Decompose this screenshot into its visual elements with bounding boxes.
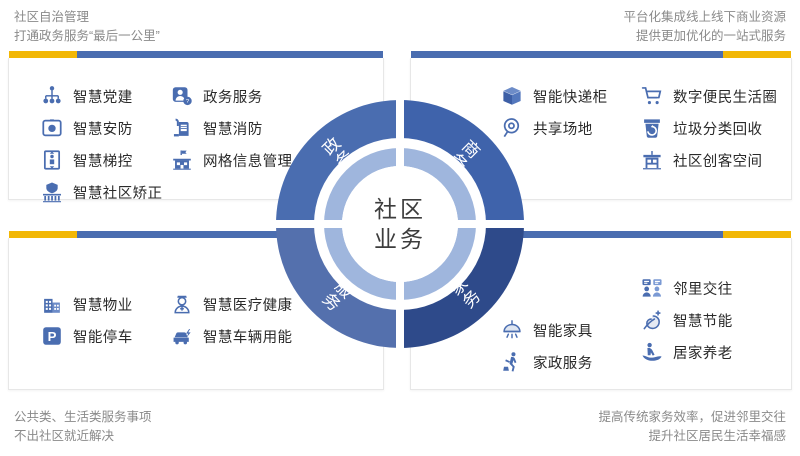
grid-building-icon xyxy=(170,148,194,172)
item-column: 智慧医疗健康 智慧车辆用能 xyxy=(170,288,292,352)
item-group-household: 智能家具 家政服务 邻里交往 智慧节能 居家养老 xyxy=(500,272,733,378)
list-item-label: 政务服务 xyxy=(203,86,263,107)
recycle-bin-icon xyxy=(640,116,664,140)
parking-icon: P xyxy=(40,324,64,348)
list-item[interactable]: 垃圾分类回收 xyxy=(640,112,777,144)
item-column: 智慧党建 智慧安防 智慧梯控 智慧社区矫正 xyxy=(40,80,170,208)
list-item[interactable]: 智慧社区矫正 xyxy=(40,176,170,208)
elevator-icon xyxy=(40,148,64,172)
list-item-label: 垃圾分类回收 xyxy=(673,118,762,139)
list-item[interactable]: 智慧消防 xyxy=(170,112,292,144)
apartment-icon xyxy=(40,292,64,316)
caption-top-left: 社区自治管理 打通政务服务“最后一公里” xyxy=(14,8,160,46)
center-donut-chart: 政务 商务 服务 家务 社区 业务 xyxy=(276,100,524,348)
list-item-label: 数字便民生活圈 xyxy=(673,86,777,107)
list-item-label: 智慧党建 xyxy=(73,86,133,107)
org-chart-icon xyxy=(40,84,64,108)
accent-gold-segment xyxy=(723,231,791,238)
list-item[interactable]: 智慧节能 xyxy=(640,304,733,336)
center-hub: 社区 业务 xyxy=(342,166,458,282)
caption-bottom-right: 提高传统家务效率，促进邻里交往 提升社区居民生活幸福感 xyxy=(598,408,786,446)
accent-gold-segment xyxy=(9,231,77,238)
list-item[interactable]: P 智能停车 xyxy=(40,320,170,352)
list-item-label: 居家养老 xyxy=(673,342,733,363)
list-item-label: 智慧梯控 xyxy=(73,150,133,171)
item-group-service: 智慧物业 P 智能停车 智慧医疗健康 智慧车辆用能 xyxy=(40,288,292,352)
list-item[interactable]: 智慧党建 xyxy=(40,80,170,112)
courthouse-icon xyxy=(40,180,64,204)
item-group-government: 智慧党建 智慧安防 智慧梯控 智慧社区矫正 ? 政务服务 智慧消防 xyxy=(40,80,292,208)
accent-blue-segment xyxy=(77,51,383,58)
list-item-label: 家政服务 xyxy=(533,352,593,373)
ev-charging-icon xyxy=(170,324,194,348)
list-item-label: 共享场地 xyxy=(533,118,593,139)
caption-top-right: 平台化集成线上线下商业资源 提供更加优化的一站式服务 xyxy=(623,8,786,46)
list-item[interactable]: 智慧安防 xyxy=(40,112,170,144)
accent-gold-segment xyxy=(723,51,791,58)
list-item[interactable]: ? 政务服务 xyxy=(170,80,292,112)
service-agent-icon: ? xyxy=(170,84,194,108)
makerspace-icon xyxy=(640,148,664,172)
list-item[interactable]: 邻里交往 xyxy=(640,272,733,304)
infographic-canvas: 社区自治管理 打通政务服务“最后一公里” 平台化集成线上线下商业资源 提供更加优… xyxy=(0,0,800,456)
list-item-label: 社区创客空间 xyxy=(673,150,762,171)
shopping-cart-icon xyxy=(640,84,664,108)
list-item-label: 智慧物业 xyxy=(73,294,133,315)
panel-accent-bar xyxy=(9,51,383,58)
caption-bottom-left: 公共类、生活类服务事项 不出社区就近解决 xyxy=(14,408,152,446)
item-column: 智慧物业 P 智能停车 xyxy=(40,288,170,352)
cleaning-icon xyxy=(500,350,524,374)
doctor-icon xyxy=(170,292,194,316)
accent-gold-segment xyxy=(9,51,77,58)
list-item[interactable]: 智慧物业 xyxy=(40,288,170,320)
list-item[interactable]: 智慧车辆用能 xyxy=(170,320,292,352)
list-item-label: 智能停车 xyxy=(73,326,133,347)
svg-text:P: P xyxy=(48,329,57,344)
list-item[interactable]: 网格信息管理 xyxy=(170,144,292,176)
list-item-label: 智慧社区矫正 xyxy=(73,182,162,203)
list-item-label: 智慧节能 xyxy=(673,310,733,331)
accent-blue-segment xyxy=(411,51,723,58)
elderly-care-icon xyxy=(640,340,664,364)
panel-accent-bar xyxy=(411,51,791,58)
list-item-label: 邻里交往 xyxy=(673,278,733,299)
item-group-business: 智能快递柜 共享场地 数字便民生活圈 垃圾分类回收 社区创客空间 xyxy=(500,80,777,176)
neighbors-icon xyxy=(640,276,664,300)
fire-hydrant-icon xyxy=(170,116,194,140)
list-item-label: 智慧消防 xyxy=(203,118,263,139)
center-title-line2: 业务 xyxy=(374,224,426,254)
list-item-label: 智能快递柜 xyxy=(533,86,608,107)
list-item[interactable]: 数字便民生活圈 xyxy=(640,80,777,112)
item-column: 邻里交往 智慧节能 居家养老 xyxy=(640,272,733,378)
item-column: ? 政务服务 智慧消防 网格信息管理 xyxy=(170,80,292,208)
list-item-label: 智慧安防 xyxy=(73,118,133,139)
list-item[interactable]: 智慧医疗健康 xyxy=(170,288,292,320)
list-item[interactable]: 居家养老 xyxy=(640,336,733,368)
list-item[interactable]: 智慧梯控 xyxy=(40,144,170,176)
energy-leaf-icon xyxy=(640,308,664,332)
list-item-label: 智能家具 xyxy=(533,320,593,341)
camera-icon xyxy=(40,116,64,140)
center-title-line1: 社区 xyxy=(374,194,426,224)
list-item[interactable]: 家政服务 xyxy=(500,346,640,378)
list-item[interactable]: 社区创客空间 xyxy=(640,144,777,176)
item-column: 数字便民生活圈 垃圾分类回收 社区创客空间 xyxy=(640,80,777,176)
